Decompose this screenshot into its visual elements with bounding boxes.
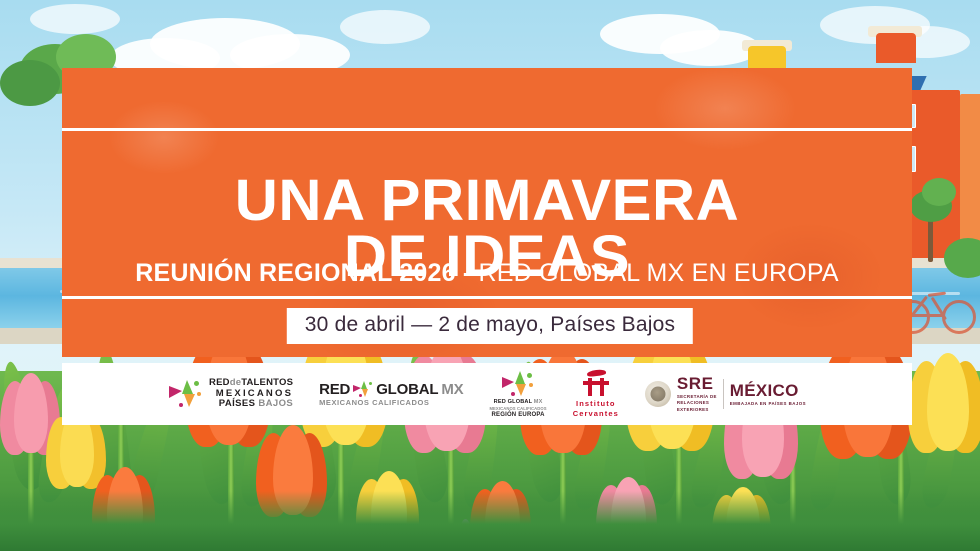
sre-sub2: RELACIONES bbox=[677, 400, 717, 407]
rdt-paises: PAÍSES bbox=[219, 398, 256, 409]
rdt-talentos: TALENTOS bbox=[241, 377, 293, 388]
mexico-wordmark: MÉXICO bbox=[730, 382, 806, 399]
divider-rule-bottom bbox=[62, 296, 912, 299]
rge-mx: MX bbox=[534, 399, 543, 405]
logo-divider bbox=[723, 379, 724, 409]
sponsor-logo-bar: REDdeTALENTOS MEXICANOS PAÍSES BAJOS RED bbox=[62, 363, 912, 425]
cervantes-line1: Instituto bbox=[573, 399, 619, 408]
subtitle-strong: REUNIÓN REGIONAL 2026 - bbox=[135, 259, 478, 287]
logo-instituto-cervantes: Instituto Cervantes bbox=[573, 370, 619, 418]
logo-red-global-mx: RED GLOBALMX MEXICANOS CALIFICADOS bbox=[319, 381, 463, 407]
rdt-red: RED bbox=[209, 377, 230, 388]
sre-sub3: EXTERIORES bbox=[677, 407, 717, 414]
event-date-badge: 30 de abril — 2 de mayo, Países Bajos bbox=[287, 308, 693, 344]
sre-acronym: SRE bbox=[677, 375, 717, 392]
confetti-icon bbox=[168, 379, 202, 409]
sre-sub1: SECRETARÍA DE bbox=[677, 394, 717, 401]
mexican-coat-of-arms-icon bbox=[645, 381, 671, 407]
tulip-yellow bbox=[908, 353, 980, 457]
cervantes-line2: Cervantes bbox=[573, 409, 619, 418]
rdt-de: de bbox=[230, 377, 242, 388]
logo-red-de-talentos-mexicanos: REDdeTALENTOS MEXICANOS PAÍSES BAJOS bbox=[168, 378, 293, 410]
title-line-1: UNA PRIMAVERA bbox=[235, 168, 740, 233]
rgmx-tagline: MEXICANOS CALIFICADOS bbox=[319, 399, 463, 407]
rge-region: REGIÓN EUROPA bbox=[491, 412, 544, 418]
event-subtitle: REUNIÓN REGIONAL 2026 - RED GLOBAL MX EN… bbox=[62, 259, 912, 288]
logo-sre-mexico: SRE SECRETARÍA DE RELACIONES EXTERIORES … bbox=[645, 375, 806, 414]
rgmx-mx: MX bbox=[441, 382, 463, 398]
confetti-icon bbox=[353, 381, 373, 398]
rge-redglobal: RED GLOBAL bbox=[494, 399, 532, 405]
subtitle-light: RED GLOBAL MX EN EUROPA bbox=[479, 259, 839, 287]
rge-tagline: MEXICANOS CALIFICADOS bbox=[489, 406, 546, 411]
rgmx-red: RED bbox=[319, 382, 350, 398]
logo-red-global-mx-region-europa: RED GLOBAL MX MEXICANOS CALIFICADOS REGI… bbox=[489, 371, 546, 418]
confetti-icon bbox=[502, 371, 534, 398]
rgmx-global: GLOBAL bbox=[376, 382, 438, 398]
grass-foreground bbox=[0, 491, 980, 551]
cervantes-tilde-icon bbox=[580, 370, 612, 396]
rdt-bajos: BAJOS bbox=[258, 398, 293, 409]
mexico-embassy-sub: EMBAJADA EN PAÍSES BAJOS bbox=[730, 402, 806, 406]
divider-rule-top bbox=[62, 128, 912, 131]
event-banner: UNA PRIMAVERA DE IDEAS REUNIÓN REGIONAL … bbox=[0, 0, 980, 551]
